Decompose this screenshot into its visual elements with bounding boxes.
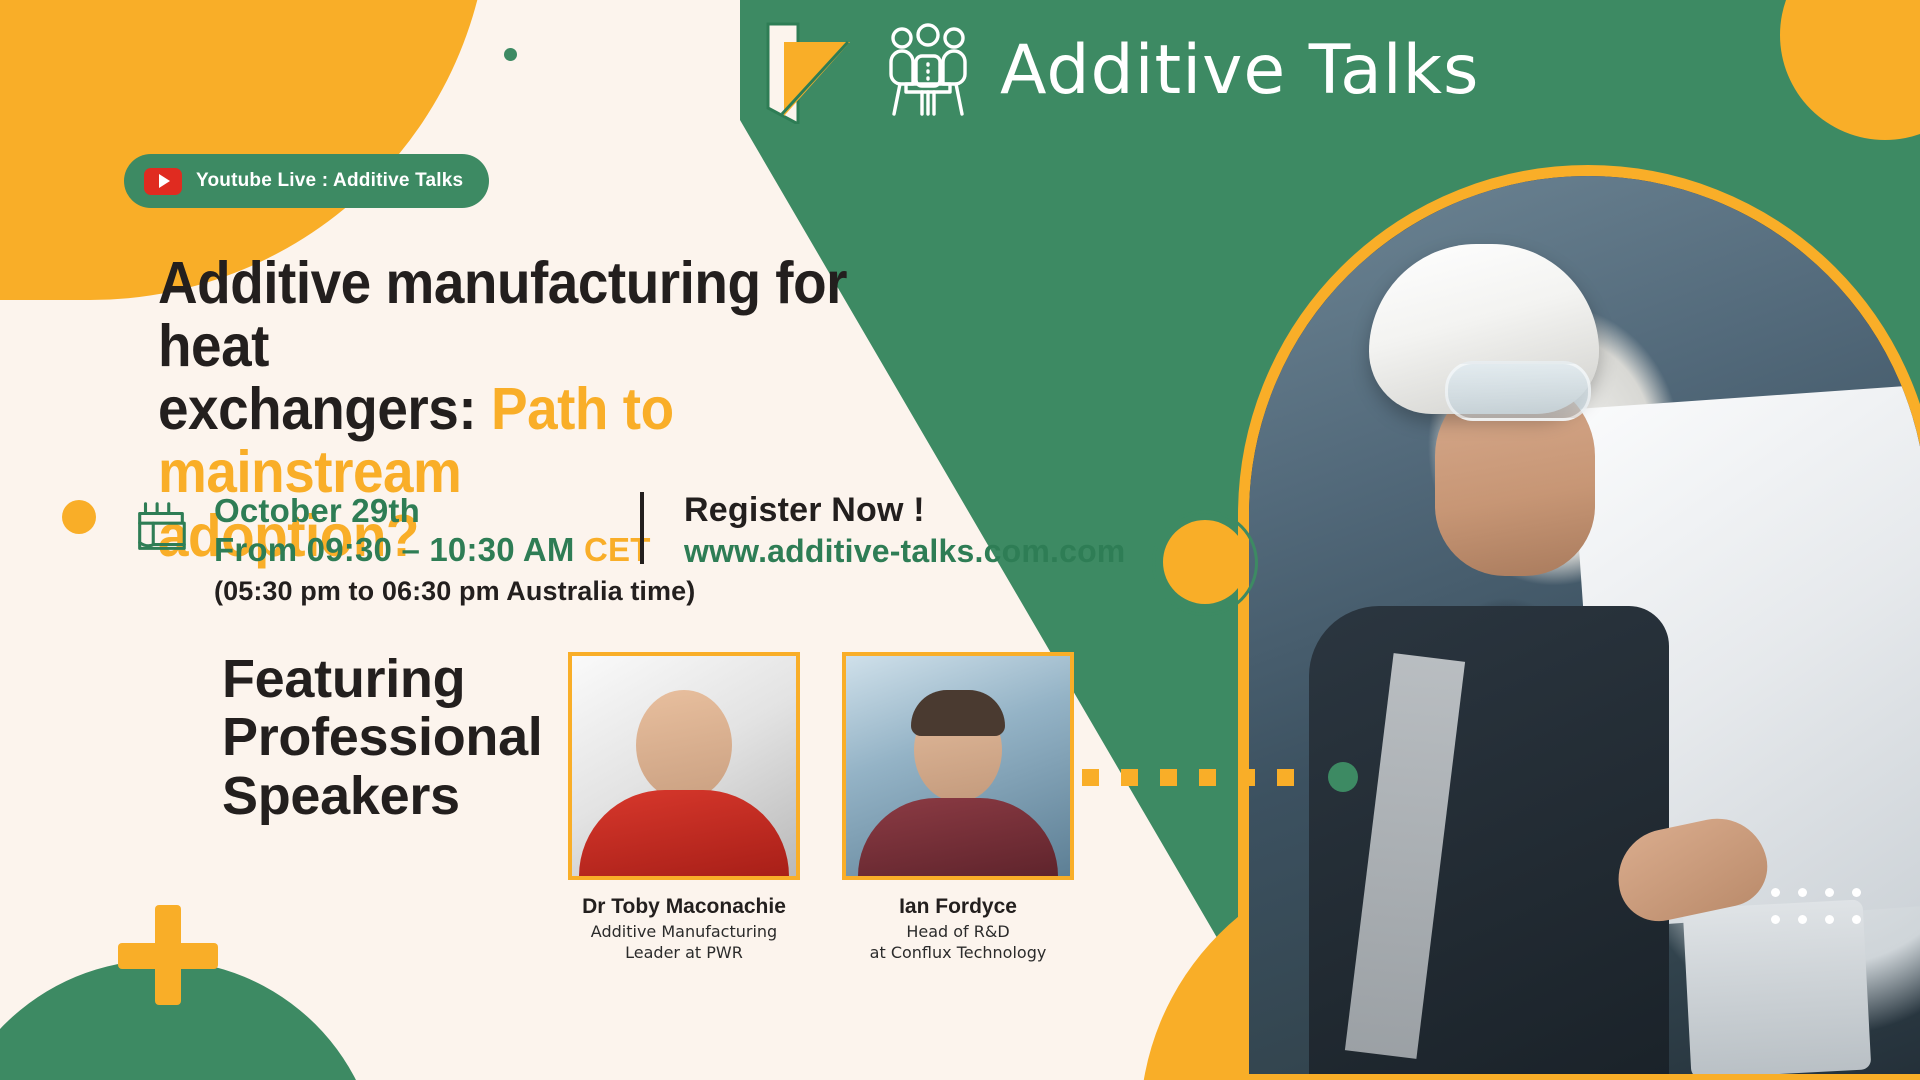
speaker-shirt-shape — [579, 790, 789, 876]
decor-orange-plus-icon — [118, 905, 218, 1005]
youtube-play-icon — [144, 168, 182, 195]
speaker-shirt-shape — [858, 798, 1058, 876]
hero-photo — [1249, 176, 1920, 1074]
avatar — [842, 652, 1074, 880]
speaker-role-line-1: Additive Manufacturing — [591, 922, 777, 941]
triangle-logo-svg — [758, 16, 856, 124]
event-time-range: From 09:30 – 10:30 AM — [214, 531, 584, 568]
event-local-time: (05:30 pm to 06:30 pm Australia time) — [214, 575, 695, 609]
decor-green-end-circle — [1328, 762, 1358, 792]
brand-name: Additive Talks — [1000, 31, 1479, 110]
register-title: Register Now ! — [684, 490, 1125, 531]
featuring-line-3: Speakers — [222, 766, 460, 826]
event-datetime-text: October 29th From 09:30 – 10:30 AM CET (… — [214, 492, 695, 609]
featuring-line-1: Featuring — [222, 649, 465, 709]
decor-white-dot-grid — [1771, 888, 1861, 924]
event-datetime: October 29th From 09:30 – 10:30 AM CET (… — [130, 492, 695, 609]
speaker-role-line-2: Leader at PWR — [625, 943, 743, 962]
featuring-line-2: Professional — [222, 707, 543, 767]
conference-people-svg — [878, 18, 978, 118]
register-block: Register Now ! www.additive-talks.com.co… — [684, 490, 1125, 571]
conference-people-icon — [878, 18, 978, 123]
speaker-name: Dr Toby Maconachie — [568, 894, 800, 919]
speaker-list: Dr Toby Maconachie Additive Manufacturin… — [568, 652, 1074, 964]
speaker-card: Ian Fordyce Head of R&D at Conflux Techn… — [842, 652, 1074, 964]
monitor-stand-shape — [1683, 899, 1872, 1078]
banner-canvas: Additive Talks Youtube Live : Additive T… — [0, 0, 1920, 1080]
triangle-logo-icon — [758, 16, 856, 124]
speaker-role: Additive Manufacturing Leader at PWR — [568, 922, 800, 964]
decor-orange-dot — [62, 500, 96, 534]
decor-square-row — [1082, 762, 1358, 792]
avatar — [568, 652, 800, 880]
speaker-role-line-1: Head of R&D — [906, 922, 1009, 941]
brand-logo: Additive Talks — [758, 16, 1479, 124]
event-date: October 29th — [214, 492, 695, 531]
headline-line-2-dark: exchangers: — [158, 376, 491, 442]
speaker-head-shape — [636, 690, 732, 800]
speaker-name: Ian Fordyce — [842, 894, 1074, 919]
decor-green-dot — [504, 48, 517, 61]
headline-line-1: Additive manufacturing for heat — [158, 250, 847, 379]
safety-goggles-shape — [1445, 361, 1591, 421]
decor-orange-circle — [1163, 520, 1247, 604]
event-time: From 09:30 – 10:30 AM CET — [214, 531, 695, 570]
speaker-role: Head of R&D at Conflux Technology — [842, 922, 1074, 964]
youtube-live-badge[interactable]: Youtube Live : Additive Talks — [124, 154, 489, 208]
hero-photo-frame — [1238, 165, 1920, 1080]
featuring-heading: Featuring Professional Speakers — [222, 650, 543, 825]
calendar-icon — [130, 492, 192, 565]
youtube-live-label: Youtube Live : Additive Talks — [196, 170, 463, 192]
speaker-card: Dr Toby Maconachie Additive Manufacturin… — [568, 652, 800, 964]
section-divider — [640, 492, 644, 564]
speaker-role-line-2: at Conflux Technology — [870, 943, 1047, 962]
speaker-hair-shape — [911, 690, 1005, 736]
register-url[interactable]: www.additive-talks.com.com — [684, 531, 1125, 571]
calendar-svg — [130, 498, 192, 560]
